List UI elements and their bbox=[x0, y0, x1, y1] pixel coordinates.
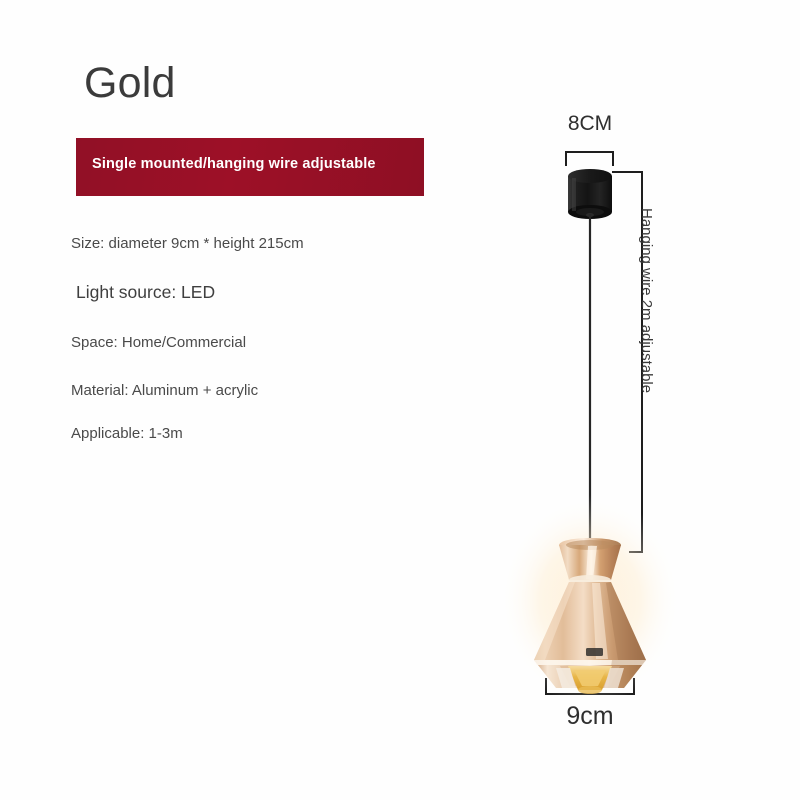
product-diagram bbox=[0, 0, 800, 800]
lamp-bevel-ring bbox=[534, 660, 646, 688]
page-title: Gold bbox=[84, 62, 176, 105]
spec-item-material: Material: Aluminum + acrylic bbox=[71, 382, 258, 399]
light-halo bbox=[498, 495, 682, 705]
lamp-shade-cone bbox=[534, 582, 646, 660]
subtitle-banner: Single mounted/hanging wire adjustable bbox=[76, 138, 424, 196]
product-spec-image: Gold Single mounted/hanging wire adjusta… bbox=[0, 0, 800, 800]
subtitle-banner-label: Single mounted/hanging wire adjustable bbox=[92, 156, 376, 172]
spec-item-light-source: Light source: LED bbox=[76, 282, 215, 303]
shade-diameter-label: 9cm bbox=[544, 702, 636, 731]
lamp-neck bbox=[559, 538, 621, 585]
spec-item-space: Space: Home/Commercial bbox=[71, 334, 246, 351]
canopy-width-label: 8CM bbox=[562, 112, 618, 136]
lamp-canopy bbox=[568, 169, 612, 219]
lamp-diffuser bbox=[556, 666, 624, 694]
spec-item-applicable: Applicable: 1-3m bbox=[71, 425, 183, 442]
wire-length-label: Hanging wire 2m adjustable bbox=[638, 208, 655, 393]
spec-item-size: Size: diameter 9cm * height 215cm bbox=[71, 235, 304, 252]
measure-shade-diameter bbox=[545, 678, 635, 694]
measure-canopy-width bbox=[565, 152, 614, 166]
